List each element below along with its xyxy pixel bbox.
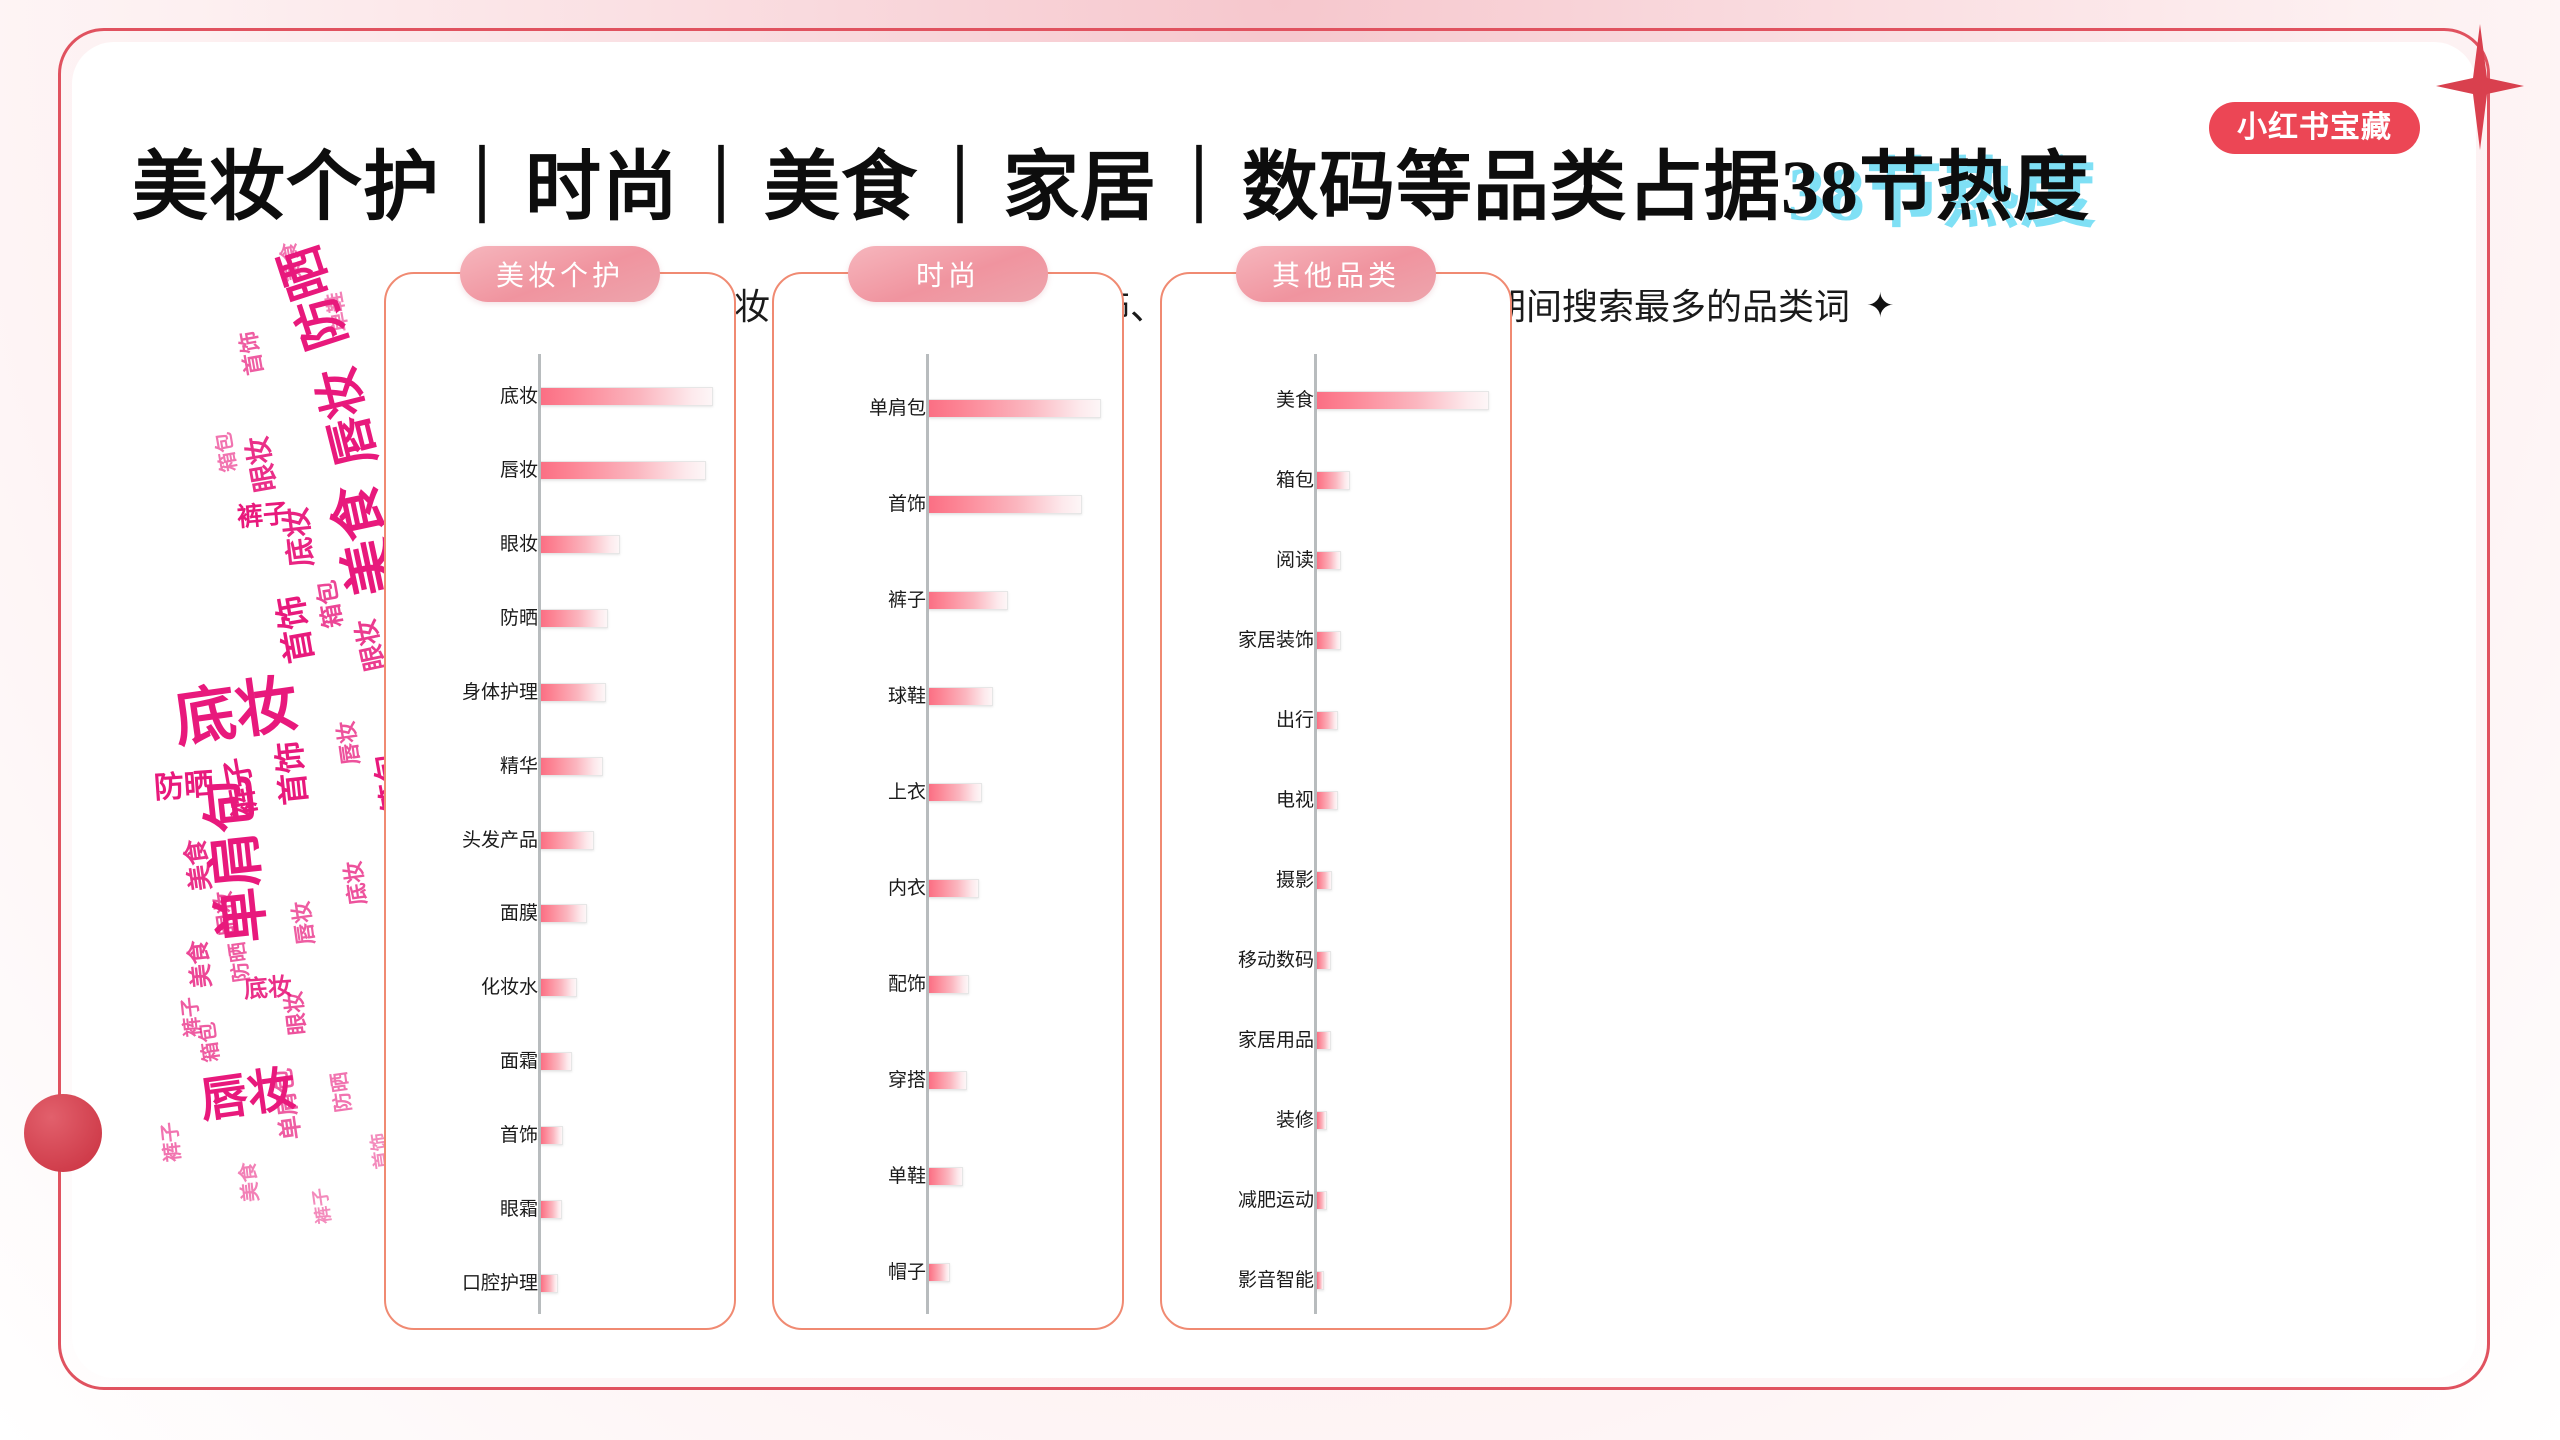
bar-label: 面霜	[386, 1052, 550, 1071]
word-cloud-item: 首饰	[237, 329, 266, 376]
word-cloud-item: 防晒	[227, 941, 252, 983]
bar	[541, 609, 608, 628]
panel-others: 其他品类 美食箱包阅读家居装饰出行电视摄影移动数码家居用品装修减肥运动影音智能	[1160, 272, 1512, 1330]
bar	[1317, 871, 1332, 890]
bar-label: 阅读	[1162, 551, 1326, 570]
bar	[1317, 1271, 1324, 1290]
bar-label: 上衣	[774, 783, 938, 802]
bar-label: 出行	[1162, 711, 1326, 730]
bar-label: 唇妆	[386, 461, 550, 480]
bar-label: 影音智能	[1162, 1271, 1326, 1290]
bar-label: 美食	[1162, 391, 1326, 410]
word-cloud-item: 箱包	[197, 1021, 222, 1063]
panel-title-others: 其他品类	[1236, 246, 1436, 302]
word-cloud-item: 美食	[187, 939, 216, 989]
brand-badge: 小红书宝藏	[2209, 102, 2420, 154]
chart-row: 眼霜	[386, 1200, 734, 1219]
bar-label: 底妆	[386, 387, 550, 406]
bar-chart-others: 美食箱包阅读家居装饰出行电视摄影移动数码家居用品装修减肥运动影音智能	[1162, 332, 1510, 1328]
bar	[929, 783, 982, 802]
bar	[541, 1200, 562, 1219]
bar	[541, 904, 587, 923]
bar	[1317, 951, 1331, 970]
bar-label: 单肩包	[774, 399, 938, 418]
chart-row: 穿搭	[774, 1071, 1122, 1090]
title-separator-3: ｜	[918, 146, 1003, 230]
chart-row: 面膜	[386, 904, 734, 923]
bar-label: 减肥运动	[1162, 1191, 1326, 1210]
word-cloud-item: 唇妆	[290, 900, 318, 947]
title-segment-3: 美食	[764, 146, 918, 230]
chart-row: 身体护理	[386, 683, 734, 702]
bar	[1317, 551, 1341, 570]
title-separator-4: ｜	[1157, 146, 1242, 230]
title-segment-5: 数码等品类占据	[1242, 146, 1781, 230]
chart-row: 箱包	[1162, 471, 1510, 490]
word-cloud-item: 底妆	[170, 674, 301, 753]
chart-row: 球鞋	[774, 687, 1122, 706]
chart-row: 首饰	[386, 1126, 734, 1145]
bar-label: 精华	[386, 757, 550, 776]
bar-label: 配饰	[774, 975, 938, 994]
bar-label: 首饰	[774, 495, 938, 514]
chart-row: 摄影	[1162, 871, 1510, 890]
decorative-dot	[24, 1094, 102, 1172]
bar	[541, 387, 713, 406]
chart-row: 家居装饰	[1162, 631, 1510, 650]
bar	[929, 1167, 963, 1186]
word-cloud-item: 唇妆	[311, 362, 384, 471]
bar	[541, 978, 577, 997]
word-cloud-item: 裤子	[311, 1187, 334, 1225]
bar-label: 帽子	[774, 1263, 938, 1282]
bar	[929, 591, 1008, 610]
chart-row: 电视	[1162, 791, 1510, 810]
bar	[929, 1263, 950, 1282]
bar	[1317, 391, 1489, 410]
word-cloud-item: 裤子	[236, 500, 290, 530]
bar-label: 球鞋	[774, 687, 938, 706]
title-highlight: 38节热度	[1781, 146, 2090, 230]
chart-row: 裤子	[774, 591, 1122, 610]
word-cloud-item: 首饰	[273, 593, 318, 666]
word-cloud-item: 单鞋	[325, 291, 352, 334]
bar-chart-beauty: 底妆唇妆眼妆防晒身体护理精华头发产品面膜化妆水面霜首饰眼霜口腔护理	[386, 332, 734, 1328]
bar	[929, 1071, 967, 1090]
bar	[1317, 711, 1338, 730]
bar-label: 眼霜	[386, 1200, 550, 1219]
bar-label: 家居用品	[1162, 1031, 1326, 1050]
bar	[1317, 1191, 1327, 1210]
word-cloud-item: 箱包	[214, 431, 241, 474]
word-cloud-item: 眼妆	[283, 990, 309, 1036]
bar-label: 防晒	[386, 609, 550, 628]
chart-row: 配饰	[774, 975, 1122, 994]
bar	[929, 495, 1082, 514]
chart-row: 内衣	[774, 879, 1122, 898]
chart-row: 底妆	[386, 387, 734, 406]
chart-row: 首饰	[774, 495, 1122, 514]
bar	[929, 399, 1101, 418]
chart-row: 化妆水	[386, 978, 734, 997]
word-cloud-item: 底妆	[342, 860, 370, 907]
chart-row: 唇妆	[386, 461, 734, 480]
bar-label: 穿搭	[774, 1071, 938, 1090]
panel-fashion: 时尚 单肩包首饰裤子球鞋上衣内衣配饰穿搭单鞋帽子	[772, 272, 1124, 1330]
bar	[541, 1126, 563, 1145]
bar	[541, 1052, 572, 1071]
bar-label: 身体护理	[386, 683, 550, 702]
chart-row: 上衣	[774, 783, 1122, 802]
bar	[1317, 1031, 1331, 1050]
chart-row: 眼妆	[386, 535, 734, 554]
bar	[929, 687, 993, 706]
chart-axis	[1314, 354, 1317, 1314]
bar-label: 装修	[1162, 1111, 1326, 1130]
bar-label: 面膜	[386, 904, 550, 923]
word-cloud-item: 裤子	[222, 755, 262, 819]
bar-label: 家居装饰	[1162, 631, 1326, 650]
chart-row: 装修	[1162, 1111, 1510, 1130]
title-separator-2: ｜	[679, 146, 764, 230]
bar-chart-fashion: 单肩包首饰裤子球鞋上衣内衣配饰穿搭单鞋帽子	[774, 332, 1122, 1328]
panel-title-beauty: 美妆个护	[460, 246, 660, 302]
bar	[929, 975, 969, 994]
bar	[541, 831, 594, 850]
bar-label: 箱包	[1162, 471, 1326, 490]
chart-row: 单鞋	[774, 1167, 1122, 1186]
chart-row: 出行	[1162, 711, 1510, 730]
bar-label: 口腔护理	[386, 1274, 550, 1293]
bar	[541, 1274, 558, 1293]
chart-row: 影音智能	[1162, 1271, 1510, 1290]
chart-row: 移动数码	[1162, 951, 1510, 970]
word-cloud-item: 裤子	[160, 1121, 184, 1163]
word-cloud-item: 眼妆	[243, 434, 280, 494]
word-cloud-item: 眼妆	[352, 617, 388, 673]
chart-row: 精华	[386, 757, 734, 776]
chart-row: 帽子	[774, 1263, 1122, 1282]
bar-label: 眼妆	[386, 535, 550, 554]
bar-label: 摄影	[1162, 871, 1326, 890]
bar-label: 头发产品	[386, 831, 550, 850]
bar	[929, 879, 979, 898]
word-cloud-item: 防晒	[153, 770, 215, 804]
bar-label: 移动数码	[1162, 951, 1326, 970]
bar	[1317, 471, 1350, 490]
word-cloud-item: 美食	[182, 837, 215, 892]
chart-row: 头发产品	[386, 831, 734, 850]
chart-row: 面霜	[386, 1052, 734, 1071]
bar-label: 电视	[1162, 791, 1326, 810]
bar-label: 裤子	[774, 591, 938, 610]
bar-label: 化妆水	[386, 978, 550, 997]
bar	[541, 757, 603, 776]
bar-label: 单鞋	[774, 1167, 938, 1186]
chart-row: 口腔护理	[386, 1274, 734, 1293]
panel-title-fashion: 时尚	[848, 246, 1048, 302]
bar	[1317, 1111, 1327, 1130]
chart-row: 美食	[1162, 391, 1510, 410]
chart-row: 家居用品	[1162, 1031, 1510, 1050]
word-cloud-item: 唇妆	[335, 720, 363, 767]
chart-row: 防晒	[386, 609, 734, 628]
word-cloud-item: 首饰	[273, 739, 312, 806]
bar-label: 首饰	[386, 1126, 550, 1145]
bar	[541, 683, 606, 702]
title-segment-4: 家居	[1003, 146, 1157, 230]
bar-label: 内衣	[774, 879, 938, 898]
word-cloud-item: 美食	[238, 1161, 262, 1203]
word-cloud-item: 防晒	[329, 1071, 354, 1113]
chart-row: 减肥运动	[1162, 1191, 1510, 1210]
chart-row: 阅读	[1162, 551, 1510, 570]
bar	[541, 461, 706, 480]
bar	[1317, 791, 1338, 810]
bar	[1317, 631, 1341, 650]
star-icon-right: ✦	[1850, 288, 1911, 325]
word-cloud-item: 眼妆	[212, 890, 240, 937]
main-card: 美妆个护｜时尚｜美食｜家居｜数码等品类占据38节热度 ✦底妆、唇妆、单肩包、首饰…	[72, 42, 2476, 1378]
bar	[541, 535, 620, 554]
panel-beauty: 美妆个护 底妆唇妆眼妆防晒身体护理精华头发产品面膜化妆水面霜首饰眼霜口腔护理	[384, 272, 736, 1330]
chart-row: 单肩包	[774, 399, 1122, 418]
